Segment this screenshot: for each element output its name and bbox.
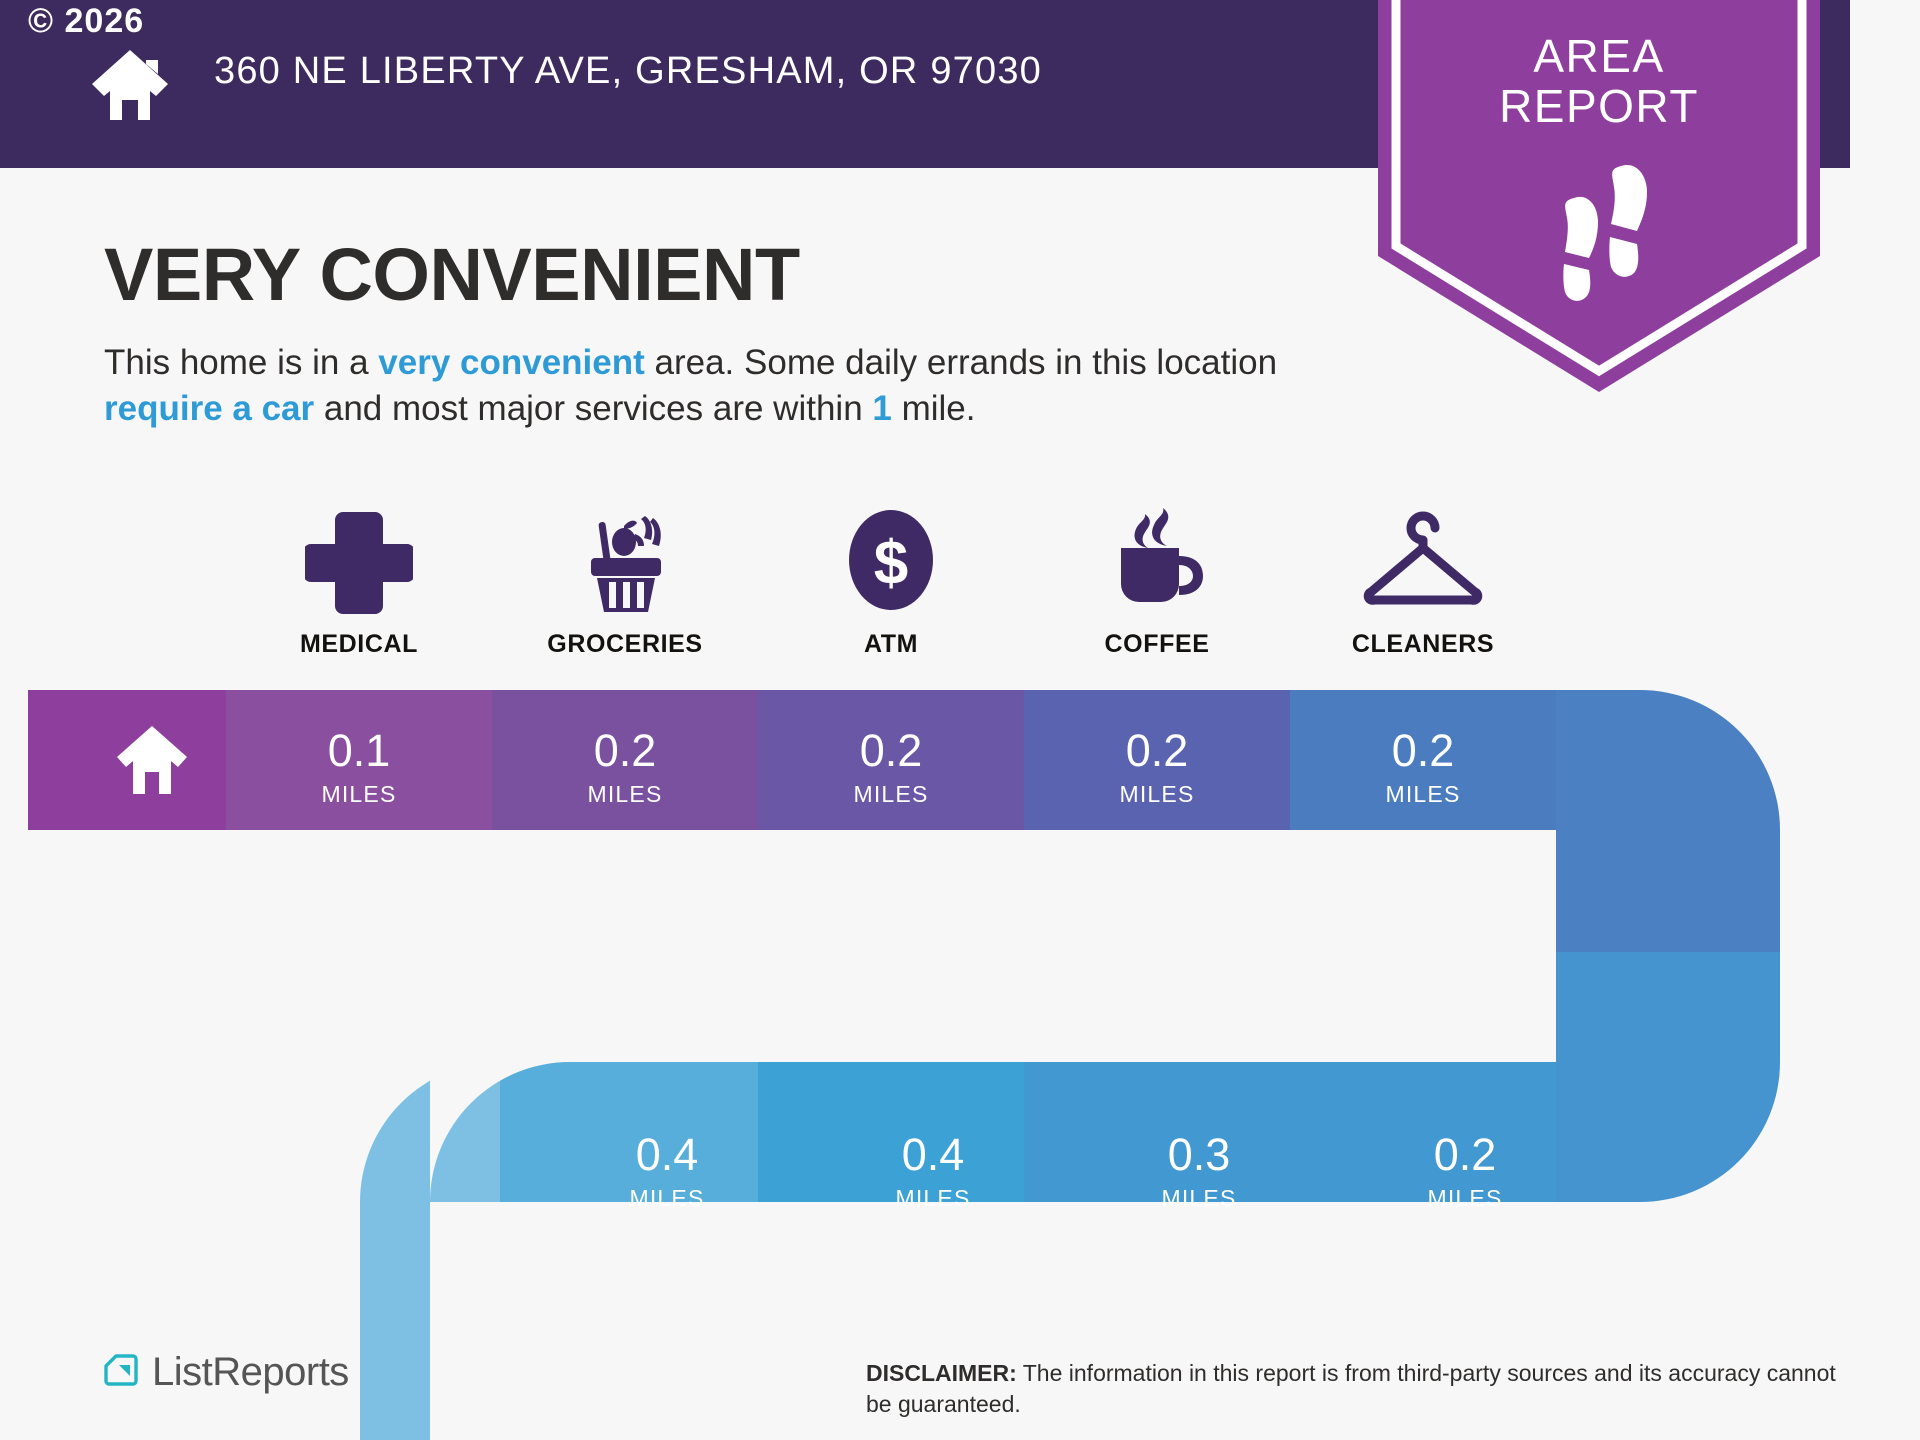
- amenity-medical: MEDICAL: [226, 500, 492, 659]
- bar-segment-gas: [492, 1062, 758, 1202]
- coffee-cup-icon: [1024, 500, 1290, 620]
- home-marker-icon: [115, 724, 189, 801]
- summary-highlight-2: require a car: [104, 389, 314, 428]
- grocery-basket-icon: [492, 500, 758, 620]
- svg-text:$: $: [874, 529, 908, 598]
- bar-segment-groceries: [492, 690, 758, 830]
- listreports-logo: ListReports: [100, 1350, 349, 1395]
- summary-highlight-1: very convenient: [378, 343, 645, 382]
- area-report-page: © 2026 360 NE LIBERTY AVE, GRESHAM, OR 9…: [0, 0, 1920, 1440]
- amenity-label: CLEANERS: [1290, 630, 1556, 659]
- area-report-banner: AREA REPORT: [1378, 0, 1820, 394]
- amenity-atm: $ ATM: [758, 500, 1024, 659]
- summary-part-3: and most major services are within: [314, 389, 872, 428]
- bar-segment-medical: [226, 690, 492, 830]
- listreports-wordmark: ListReports: [152, 1350, 349, 1395]
- disclaimer: DISCLAIMER: The information in this repo…: [866, 1358, 1866, 1420]
- banner-title: AREA REPORT: [1378, 32, 1820, 131]
- amenity-icons-row-1: MEDICAL: [226, 500, 1556, 659]
- amenity-cleaners: CLEANERS: [1290, 500, 1556, 659]
- disclaimer-label: DISCLAIMER:: [866, 1360, 1017, 1386]
- copyright-watermark: © 2026: [28, 2, 144, 41]
- summary-part-4: mile.: [892, 389, 976, 428]
- property-address: 360 NE LIBERTY AVE, GRESHAM, OR 97030: [214, 50, 1042, 93]
- home-icon: [88, 48, 172, 122]
- summary-text: This home is in a very convenient area. …: [104, 340, 1374, 432]
- clothes-hanger-icon: [1290, 500, 1556, 620]
- bar-segment-coffee: [1024, 690, 1290, 830]
- dollar-coin-icon: $: [758, 500, 1024, 620]
- bar-segment-pharmacy: [758, 1062, 1024, 1202]
- amenity-groceries: GROCERIES: [492, 500, 758, 659]
- bar-segment-gym-right: [1290, 1062, 1556, 1202]
- amenity-label: COFFEE: [1024, 630, 1290, 659]
- amenity-label: GROCERIES: [492, 630, 758, 659]
- summary-part-1: This home is in a: [104, 343, 378, 382]
- page-title: VERY CONVENIENT: [104, 232, 800, 317]
- listreports-tag-icon: [100, 1352, 142, 1394]
- amenity-coffee: COFFEE: [1024, 500, 1290, 659]
- distance-track: [0, 690, 1920, 1440]
- distance-bar-row-1: [28, 690, 1780, 952]
- summary-part-2: area. Some daily errands in this locatio…: [645, 343, 1277, 382]
- bar-segment-gym: [1024, 1062, 1290, 1202]
- amenity-label: MEDICAL: [226, 630, 492, 659]
- banner-line-1: AREA: [1378, 32, 1820, 82]
- summary-highlight-3: 1: [872, 389, 891, 428]
- bar-segment-cleaners: [1290, 690, 1556, 830]
- medical-cross-icon: [226, 500, 492, 620]
- banner-line-2: REPORT: [1378, 82, 1820, 132]
- bar-segment-atm: [758, 690, 1024, 830]
- amenity-label: ATM: [758, 630, 1024, 659]
